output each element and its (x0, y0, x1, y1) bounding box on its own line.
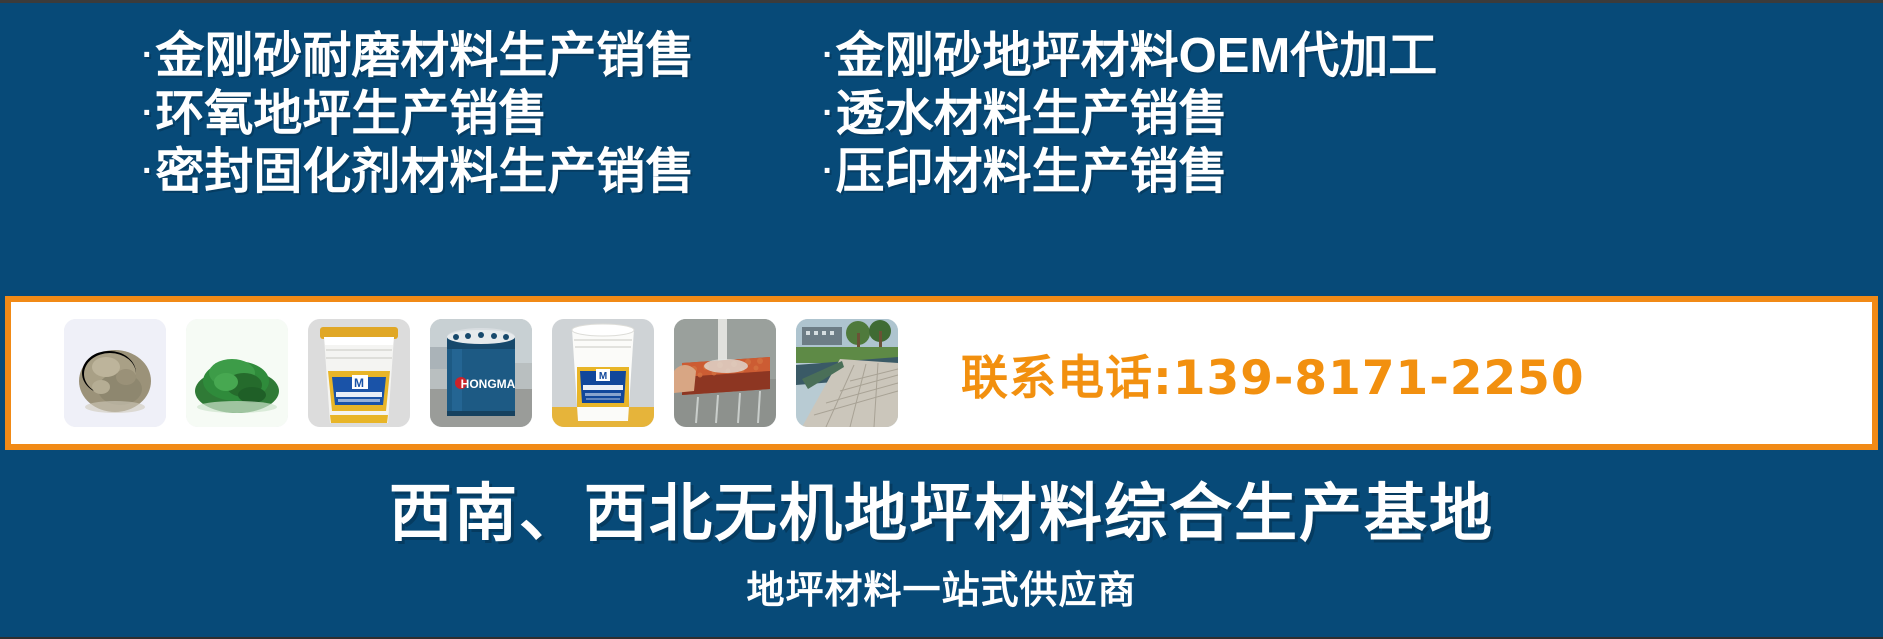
service-label: 环氧地坪生产销售 (155, 87, 547, 142)
svg-text:M: M (599, 371, 607, 382)
blue-drum-hongma-thumbnail: HONGMA (430, 319, 532, 427)
bullet-icon: · (142, 154, 153, 188)
promotional-banner: · 金刚砂耐磨材料生产销售 · 环氧地坪生产销售 · 密封固化剂材料生产销售 ·… (0, 0, 1883, 639)
product-thumbnail-row: M (64, 319, 898, 427)
service-item: · 密封固化剂材料生产销售 (142, 145, 694, 200)
svg-text:M: M (354, 376, 364, 390)
service-label: 压印材料生产销售 (836, 145, 1228, 200)
services-list: · 金刚砂耐磨材料生产销售 · 环氧地坪生产销售 · 密封固化剂材料生产销售 ·… (0, 29, 1883, 229)
service-label: 金刚砂地坪材料OEM代加工 (836, 29, 1438, 84)
white-yellow-bucket-sealer-thumbnail: M (308, 319, 410, 427)
bullet-icon: · (822, 154, 833, 188)
service-item: · 透水材料生产销售 (822, 87, 1437, 142)
page-title: 西南、西北无机地坪材料综合生产基地 (0, 463, 1883, 554)
product-strip: M (5, 296, 1878, 450)
bullet-icon: · (142, 96, 153, 130)
service-label: 金刚砂耐磨材料生产销售 (155, 29, 694, 84)
bullet-icon: · (822, 38, 833, 72)
services-left-column: · 金刚砂耐磨材料生产销售 · 环氧地坪生产销售 · 密封固化剂材料生产销售 (142, 29, 694, 203)
service-item: · 环氧地坪生产销售 (142, 87, 694, 142)
contact-phone[interactable]: 联系电话:139-8171-2250 (961, 339, 1585, 408)
service-item: · 金刚砂地坪材料OEM代加工 (822, 29, 1437, 84)
page-subtitle: 地坪材料一站式供应商 (0, 559, 1883, 614)
bullet-icon: · (822, 96, 833, 130)
bullet-icon: · (142, 38, 153, 72)
white-bucket-epoxy-coating-thumbnail: M (552, 319, 654, 427)
green-wear-resistant-powder-thumbnail (186, 319, 288, 427)
services-right-column: · 金刚砂地坪材料OEM代加工 · 透水材料生产销售 · 压印材料生产销售 (822, 29, 1437, 203)
svg-text:HONGMA: HONGMA (461, 377, 516, 391)
red-permeable-concrete-slab-thumbnail (674, 319, 776, 427)
grey-wear-resistant-powder-thumbnail (64, 319, 166, 427)
service-item: · 金刚砂耐磨材料生产销售 (142, 29, 694, 84)
service-label: 密封固化剂材料生产销售 (155, 145, 694, 200)
stamped-concrete-walkway-thumbnail (796, 319, 898, 427)
service-item: · 压印材料生产销售 (822, 145, 1437, 200)
service-label: 透水材料生产销售 (836, 87, 1228, 142)
